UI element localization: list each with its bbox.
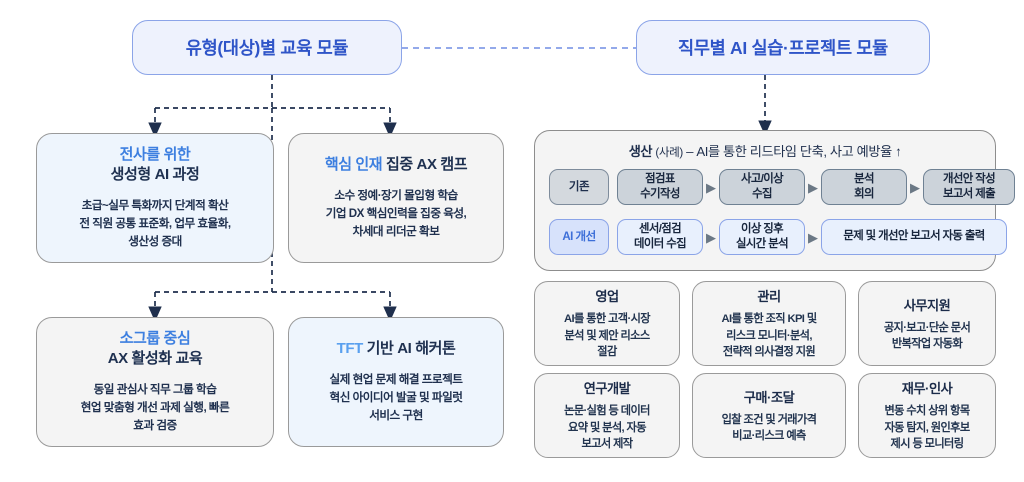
flow-step-line: 점검표 (645, 173, 675, 185)
card-main-title: 집중 AX 캠프 (386, 156, 467, 173)
domain-title: 재무·인사 (902, 378, 952, 397)
domain-desc-line: 비교·리스크 예측 (722, 428, 817, 444)
flow-step-line: 센서/점검 (639, 223, 681, 235)
flow-step-text: 점검표 수기작성 (640, 172, 680, 202)
diagram-canvas: 유형(대상)별 교육 모듈 직무별 AI 실습·프로젝트 모듈 전사를 위한 생… (0, 0, 1024, 482)
domain-description: AI를 통한 조직 KPI 및 리스크 모니터·분석, 전략적 의사결정 지원 (721, 311, 816, 360)
domain-title: 관리 (757, 286, 780, 305)
card-description: 동일 관심사 직무 그룹 학습 현업 맞춤형 개선 과제 실행, 빠른 효과 검… (81, 381, 230, 435)
production-title-paren: (사례) (655, 146, 682, 159)
card-accent-title: TFT (337, 340, 363, 357)
flow-step-line: 개선안 작성 (943, 173, 995, 185)
flow-step-line: 수기작성 (640, 188, 680, 200)
flow-step-ai-1[interactable]: 센서/점검 데이터 수집 (617, 219, 703, 255)
domain-desc-line: 변동 수치 상위 항목 (884, 403, 969, 419)
domain-desc-line: 절감 (564, 344, 650, 360)
card-desc-line: 기업 DX 핵심인력을 집중 육성, (326, 205, 467, 223)
flow-row-ai-improved: AI 개선 센서/점검 데이터 수집 ▶ 이상 징후 실시간 분석 ▶ 문제 및… (549, 219, 1007, 255)
card-title: 핵심 인재 집중 AX 캠프 (325, 155, 467, 175)
flow-step-ai-2[interactable]: 이상 징후 실시간 분석 (719, 219, 805, 255)
domain-title: 영업 (595, 286, 618, 305)
card-main-title: AX 활성화 교육 (108, 350, 203, 367)
card-tft-ai-hackathon[interactable]: TFT 기반 AI 해커톤 실제 현업 문제 해결 프로젝트 혁신 아이디어 발… (288, 317, 504, 447)
flow-tag-as-is[interactable]: 기존 (549, 169, 609, 205)
header-left-education-modules[interactable]: 유형(대상)별 교육 모듈 (132, 20, 402, 75)
flow-step-as-is-4[interactable]: 개선안 작성 보고서 제출 (923, 169, 1015, 205)
flow-step-text: 센서/점검 데이터 수집 (634, 222, 686, 252)
flow-step-line: 이상 징후 (741, 223, 783, 235)
domain-description: 변동 수치 상위 항목 자동 탐지, 원인후보 제시 등 모니터링 (884, 403, 969, 452)
domain-title: 사무지원 (904, 295, 951, 314)
flow-arrow-icon: ▶ (805, 181, 821, 194)
domain-desc-line: 요약 및 분석, 자동 (564, 420, 650, 436)
flow-step-line: 회의 (854, 188, 874, 200)
card-desc-line: 소수 정예·장기 몰입형 학습 (326, 187, 467, 205)
flow-step-text: 개선안 작성 보고서 제출 (943, 172, 995, 202)
card-desc-line: 혁신 아이디어 발굴 및 파일럿 (330, 389, 463, 407)
domain-desc-line: 논문·실험 등 데이터 (564, 403, 650, 419)
card-accent-title: 전사를 위한 (120, 146, 191, 163)
card-description: 소수 정예·장기 몰입형 학습 기업 DX 핵심인력을 집중 육성, 차세대 리… (326, 187, 467, 241)
card-accent-title: 핵심 인재 (325, 156, 382, 173)
domain-description: 논문·실험 등 데이터 요약 및 분석, 자동 보고서 제작 (564, 403, 650, 452)
flow-step-line: 사고/이상 (741, 173, 783, 185)
flow-step-line: 문제 및 개선안 보고서 자동 출력 (843, 229, 984, 244)
flow-step-as-is-2[interactable]: 사고/이상 수집 (719, 169, 805, 205)
flow-step-line: 수집 (752, 188, 772, 200)
header-left-label: 유형(대상)별 교육 모듈 (186, 35, 348, 60)
domain-desc-line: 전략적 의사결정 지원 (721, 344, 816, 360)
domain-desc-line: 리스크 모니터·분석, (721, 328, 816, 344)
flow-step-text: 이상 징후 실시간 분석 (736, 222, 788, 252)
card-accent-title: 소그룹 중심 (120, 330, 191, 347)
flow-step-line: 분석 (854, 173, 874, 185)
header-right-label: 직무별 AI 실습·프로젝트 모듈 (678, 35, 888, 60)
domain-card-finance-hr[interactable]: 재무·인사 변동 수치 상위 항목 자동 탐지, 원인후보 제시 등 모니터링 (858, 373, 996, 458)
flow-step-ai-3[interactable]: 문제 및 개선안 보고서 자동 출력 (821, 219, 1007, 255)
production-title-rest: – AI를 통한 리드타임 단축, 사고 예방율 ↑ (686, 144, 901, 159)
header-right-job-ai-modules[interactable]: 직무별 AI 실습·프로젝트 모듈 (636, 20, 930, 75)
card-main-title: 기반 AI 해커톤 (367, 340, 456, 357)
flow-arrow-icon: ▶ (703, 181, 719, 194)
domain-desc-line: 자동 탐지, 원인후보 (884, 420, 969, 436)
domain-desc-line: AI를 통한 조직 KPI 및 (721, 311, 816, 327)
domain-desc-line: 공지·보고·단순 문서 (884, 320, 970, 336)
card-core-talent-ax-camp[interactable]: 핵심 인재 집중 AX 캠프 소수 정예·장기 몰입형 학습 기업 DX 핵심인… (288, 133, 504, 263)
flow-step-as-is-3[interactable]: 분석 회의 (821, 169, 907, 205)
domain-description: 입찰 조건 및 거래가격 비교·리스크 예측 (722, 412, 817, 445)
flow-arrow-icon: ▶ (703, 231, 719, 244)
card-desc-line: 효과 검증 (81, 417, 230, 435)
domain-card-sales[interactable]: 영업 AI를 통한 고객·시장 분석 및 제안 리소스 절감 (534, 281, 680, 366)
card-small-group-ax[interactable]: 소그룹 중심 AX 활성화 교육 동일 관심사 직무 그룹 학습 현업 맞춤형 … (36, 317, 274, 447)
domain-title: 구매·조달 (744, 387, 794, 406)
card-description: 초급~실무 특화까지 단계적 확산 전 직원 공통 표준화, 업무 효율화, 생… (79, 197, 230, 251)
card-title: 전사를 위한 생성형 AI 과정 (111, 145, 200, 185)
flow-arrow-icon: ▶ (805, 231, 821, 244)
flow-tag-label: AI 개선 (562, 230, 595, 245)
domain-card-management[interactable]: 관리 AI를 통한 조직 KPI 및 리스크 모니터·분석, 전략적 의사결정 … (692, 281, 846, 366)
flow-tag-ai-improved[interactable]: AI 개선 (549, 219, 609, 255)
card-desc-line: 전 직원 공통 표준화, 업무 효율화, (79, 215, 230, 233)
domain-card-rnd[interactable]: 연구개발 논문·실험 등 데이터 요약 및 분석, 자동 보고서 제작 (534, 373, 680, 458)
production-case-panel: 생산 (사례) – AI를 통한 리드타임 단축, 사고 예방율 ↑ 기존 점검… (534, 130, 996, 271)
flow-row-as-is: 기존 점검표 수기작성 ▶ 사고/이상 수집 ▶ 분석 회의 (549, 169, 1015, 205)
flow-step-text: 분석 회의 (854, 172, 874, 202)
domain-description: AI를 통한 고객·시장 분석 및 제안 리소스 절감 (564, 311, 650, 360)
card-desc-line: 동일 관심사 직무 그룹 학습 (81, 381, 230, 399)
flow-step-line: 실시간 분석 (736, 238, 788, 250)
card-main-title: 생성형 AI 과정 (111, 166, 200, 183)
card-description: 실제 현업 문제 해결 프로젝트 혁신 아이디어 발굴 및 파일럿 서비스 구현 (330, 371, 463, 425)
card-desc-line: 현업 맞춤형 개선 과제 실행, 빠른 (81, 399, 230, 417)
domain-desc-line: 입찰 조건 및 거래가격 (722, 412, 817, 428)
domain-title: 연구개발 (584, 378, 631, 397)
domain-desc-line: 제시 등 모니터링 (884, 436, 969, 452)
card-title: TFT 기반 AI 해커톤 (337, 339, 456, 359)
domain-desc-line: 분석 및 제안 리소스 (564, 328, 650, 344)
card-desc-line: 초급~실무 특화까지 단계적 확산 (79, 197, 230, 215)
card-desc-line: 차세대 리더군 확보 (326, 223, 467, 241)
card-enterprise-genai[interactable]: 전사를 위한 생성형 AI 과정 초급~실무 특화까지 단계적 확산 전 직원 … (36, 133, 274, 263)
flow-step-text: 사고/이상 수집 (741, 172, 783, 202)
flow-tag-label: 기존 (569, 180, 589, 195)
card-title: 소그룹 중심 AX 활성화 교육 (108, 329, 203, 369)
domain-desc-line: 보고서 제작 (564, 436, 650, 452)
card-desc-line: 생산성 증대 (79, 233, 230, 251)
flow-step-as-is-1[interactable]: 점검표 수기작성 (617, 169, 703, 205)
domain-card-office-support[interactable]: 사무지원 공지·보고·단순 문서 반복작업 자동화 (858, 281, 996, 366)
production-title-bold: 생산 (629, 144, 652, 159)
domain-desc-line: 반복작업 자동화 (884, 336, 970, 352)
production-panel-title: 생산 (사례) – AI를 통한 리드타임 단축, 사고 예방율 ↑ (535, 141, 995, 160)
domain-card-purchasing[interactable]: 구매·조달 입찰 조건 및 거래가격 비교·리스크 예측 (692, 373, 846, 458)
card-desc-line: 서비스 구현 (330, 407, 463, 425)
card-desc-line: 실제 현업 문제 해결 프로젝트 (330, 371, 463, 389)
flow-step-line: 보고서 제출 (943, 188, 995, 200)
flow-step-line: 데이터 수집 (634, 238, 686, 250)
domain-desc-line: AI를 통한 고객·시장 (564, 311, 650, 327)
flow-arrow-icon: ▶ (907, 181, 923, 194)
domain-description: 공지·보고·단순 문서 반복작업 자동화 (884, 320, 970, 353)
